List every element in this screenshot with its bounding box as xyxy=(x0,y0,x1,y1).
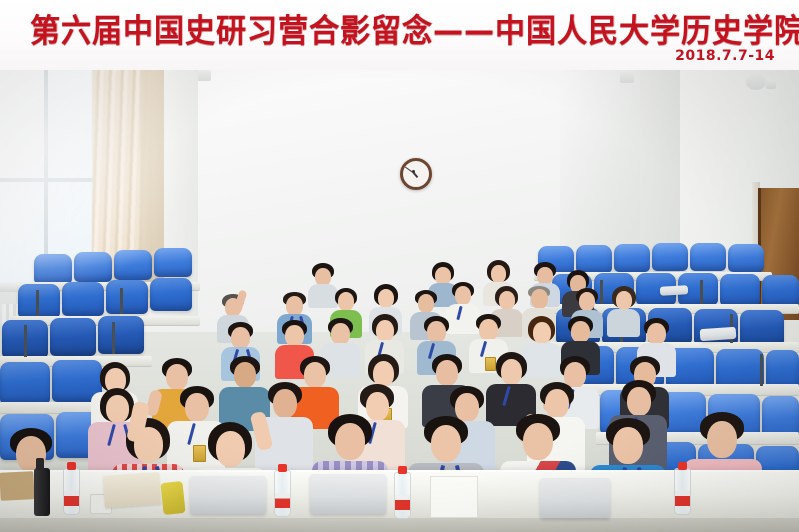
ceiling-speaker-icon xyxy=(766,80,776,89)
water-bottle xyxy=(394,472,411,519)
water-bottle xyxy=(63,468,80,515)
clock-center-pin xyxy=(412,170,415,173)
ceiling-speaker-icon xyxy=(197,70,211,81)
bottle-label xyxy=(275,493,290,508)
bottle-cap xyxy=(398,466,407,474)
group-photo-banner: 第六届中国史研习营合影留念——中国人民大学历史学院承办 2018.7.7-14 xyxy=(0,0,799,532)
group-photograph xyxy=(0,70,799,532)
banner-title: 第六届中国史研习营合影留念——中国人民大学历史学院承办 xyxy=(30,14,775,50)
front-desk-edge xyxy=(0,518,799,532)
bottle-cap xyxy=(67,462,76,470)
window-transom xyxy=(0,178,94,182)
ceiling-speaker-icon xyxy=(746,74,766,90)
laptop xyxy=(310,474,386,514)
window-mullion xyxy=(44,70,48,282)
bottle-label xyxy=(395,495,410,510)
wall-clock-icon xyxy=(400,158,432,190)
thermos-cap xyxy=(36,458,44,470)
bottle-label xyxy=(64,491,79,506)
bottle-label xyxy=(675,491,690,506)
thermos xyxy=(34,468,50,516)
clipboard xyxy=(0,471,35,501)
tablet xyxy=(540,478,610,518)
bottle-cap xyxy=(678,462,687,470)
open-notebook xyxy=(103,472,161,508)
banner-date: 2018.7.7-14 xyxy=(675,48,775,64)
paper-stack xyxy=(430,476,478,518)
laptop xyxy=(190,476,266,514)
title-banner: 第六届中国史研习营合影留念——中国人民大学历史学院承办 2018.7.7-14 xyxy=(0,0,799,70)
water-bottle xyxy=(274,470,291,517)
ceiling-speaker-icon xyxy=(620,72,634,83)
bottle-cap xyxy=(278,464,287,472)
water-bottle xyxy=(674,468,691,515)
pencil-case xyxy=(160,481,185,515)
